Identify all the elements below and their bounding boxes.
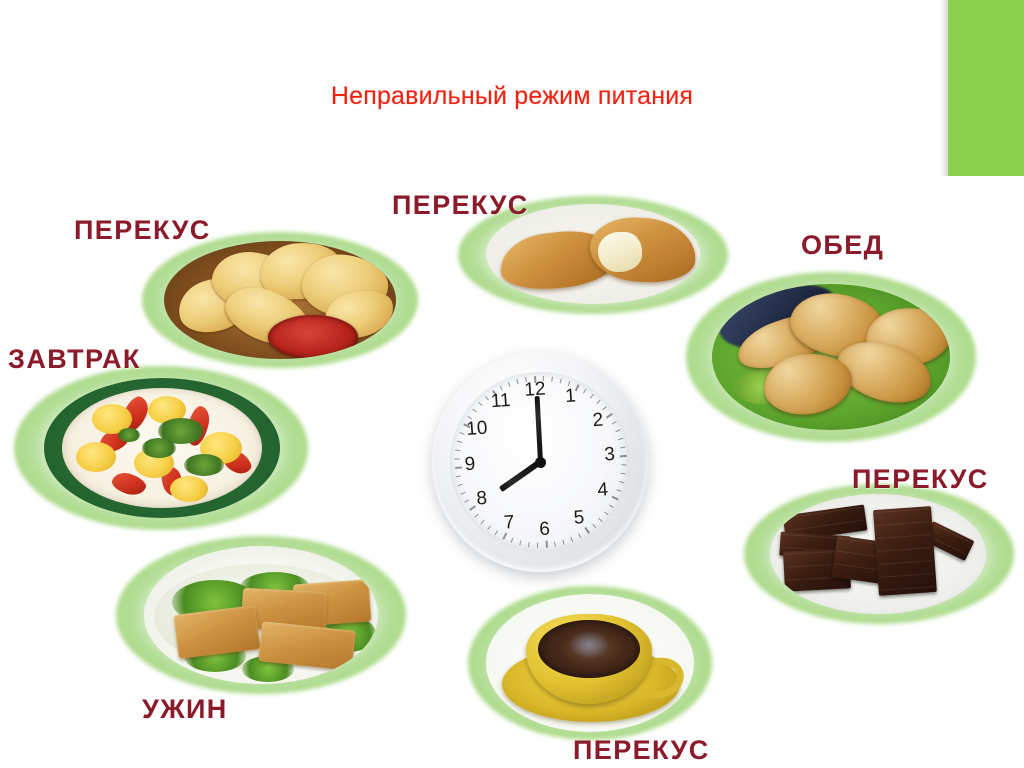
- food-plate-coffee: [468, 586, 712, 740]
- clock-tick: [487, 526, 491, 531]
- meal-label-breakfast: ЗАВТРАК: [8, 344, 141, 375]
- clock-tick: [551, 377, 553, 382]
- clock-tick: [589, 394, 593, 399]
- clock-tick: [545, 541, 547, 548]
- clock-tick: [510, 538, 513, 543]
- clock-tick: [608, 504, 613, 507]
- chips-photo: [164, 241, 396, 359]
- clock-tick: [519, 540, 521, 545]
- clock-hour-5: 5: [566, 506, 591, 530]
- clock-tick: [598, 518, 602, 522]
- clock-tick: [615, 429, 620, 432]
- chocolate-photo: [770, 494, 986, 614]
- meal-label-snack-top-center: ПЕРЕКУС: [392, 190, 529, 221]
- wall-clock: 121234567891011: [432, 352, 648, 572]
- clock-tick: [528, 542, 530, 547]
- sandwiches-photo: [144, 546, 378, 684]
- food-plate-chicken: [686, 272, 976, 442]
- clock-tick: [618, 481, 623, 483]
- meal-label-snack-top-left: ПЕРЕКУС: [74, 215, 211, 246]
- clock-tick: [562, 540, 564, 545]
- meal-label-snack-bottom: ПЕРЕКУС: [573, 735, 710, 766]
- clock-tick: [592, 524, 596, 528]
- food-plate-eggs: [14, 366, 308, 530]
- clock-hour-7: 7: [496, 511, 521, 535]
- clock-hour-4: 4: [590, 479, 615, 503]
- clock-tick: [570, 537, 573, 542]
- egg-yolk: [76, 442, 116, 472]
- coffee-sheen: [570, 632, 608, 658]
- coffee-photo: [486, 594, 694, 732]
- clock-tick: [618, 438, 623, 440]
- clock-tick: [460, 492, 465, 495]
- clock-tick: [507, 382, 510, 387]
- clock-minute-hand: [534, 396, 542, 462]
- clock-tick: [455, 450, 460, 452]
- herb-garnish: [118, 428, 140, 442]
- clock-hour-6: 6: [532, 518, 557, 542]
- meal-label-lunch: ОБЕД: [801, 230, 884, 261]
- food-plate-chips: [142, 232, 418, 368]
- clock-tick: [604, 511, 609, 515]
- clock-hour-3: 3: [597, 443, 622, 467]
- clock-tick: [456, 441, 461, 443]
- clock-tick: [459, 432, 464, 435]
- clock-hour-9: 9: [457, 453, 482, 477]
- toasted-sandwich: [174, 605, 261, 659]
- chocolate-bar: [873, 506, 937, 596]
- food-plate-sandwiches: [116, 536, 406, 694]
- clock-hour-8: 8: [469, 487, 494, 511]
- clock-hour-2: 2: [585, 409, 610, 433]
- clock-tick: [457, 484, 462, 486]
- fried-chicken-photo: [712, 284, 950, 430]
- serving-plate: [154, 564, 368, 670]
- clock-tick: [559, 378, 561, 383]
- clock-tick: [578, 533, 581, 538]
- clock-tick: [611, 421, 616, 424]
- slide-canvas: Неправильный режим питания ПЕРЕКУС ПЕРЕК…: [0, 0, 1024, 768]
- clock-tick: [478, 402, 482, 406]
- clock-tick: [582, 389, 585, 394]
- clock-tick: [616, 489, 621, 492]
- clock-tick: [464, 500, 469, 503]
- herb-garnish: [184, 454, 224, 476]
- clock-tick: [554, 542, 556, 547]
- page-title: Неправильный режим питания: [0, 82, 1024, 111]
- clock-center-cap: [534, 456, 546, 468]
- egg-white-base: [62, 388, 262, 508]
- clock-tick: [480, 520, 484, 524]
- clock-hour-11: 11: [488, 390, 513, 414]
- herb-garnish: [142, 438, 176, 458]
- meal-label-snack-right: ПЕРЕКУС: [852, 464, 989, 495]
- clock-tick: [472, 409, 477, 413]
- egg-yolk: [170, 476, 208, 502]
- cheese-filling: [598, 232, 642, 272]
- clock-tick: [516, 379, 518, 384]
- clock-hour-10: 10: [464, 418, 489, 442]
- salsa-dip-bowl: [268, 315, 358, 359]
- clock-tick: [620, 473, 625, 475]
- clock-tick: [474, 514, 478, 518]
- fried-eggs-photo: [44, 378, 280, 518]
- clock-tick: [536, 543, 537, 548]
- food-plate-chocolate: [744, 484, 1014, 624]
- clock-tick: [596, 400, 600, 404]
- clock-hour-1: 1: [558, 385, 583, 409]
- meal-label-dinner: УЖИН: [142, 694, 228, 725]
